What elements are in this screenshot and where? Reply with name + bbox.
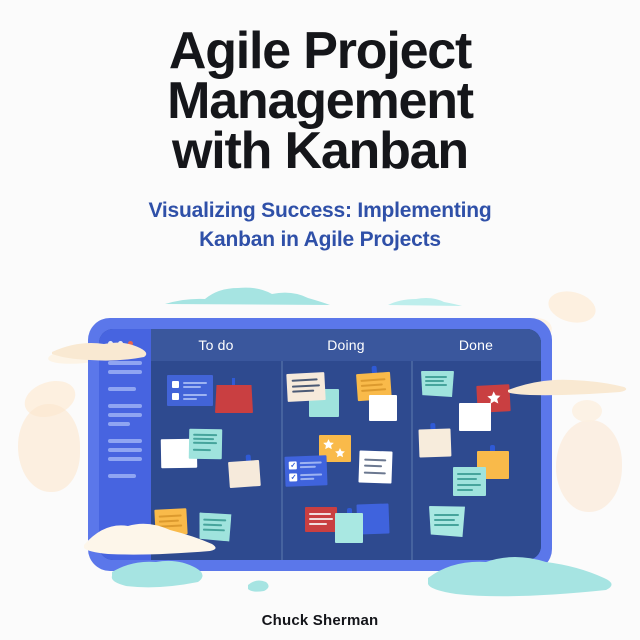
card-teal-pinned[interactable] — [335, 513, 363, 545]
column-header-done[interactable]: Done — [411, 329, 541, 361]
card-text-line — [193, 434, 217, 436]
kanban-column-doing[interactable]: ✓ ✓ — [281, 361, 411, 560]
sidebar-nav-item[interactable] — [108, 361, 142, 365]
card-orange-lined[interactable] — [154, 508, 187, 536]
kanban-column-done[interactable] — [411, 361, 541, 560]
title-line-1: Agile Project — [0, 26, 640, 76]
card-text-line — [309, 513, 331, 515]
card-text-line — [425, 384, 447, 386]
card-text-line — [457, 473, 481, 475]
sidebar-nav-item[interactable] — [108, 422, 130, 426]
app-sidebar[interactable] — [99, 329, 151, 560]
sidebar-nav-item[interactable] — [108, 439, 142, 443]
minimize-dot-icon[interactable] — [108, 341, 113, 346]
card-text-line — [292, 390, 314, 393]
card-text-line — [193, 442, 217, 444]
card-surface — [418, 428, 451, 457]
star-icon — [334, 447, 346, 459]
column-divider-2 — [411, 361, 413, 560]
card-teal-lined[interactable] — [421, 371, 454, 397]
card-text-line — [159, 524, 182, 527]
peach-blob-left-2 — [18, 404, 80, 492]
card-teal-lined-2[interactable] — [199, 512, 232, 541]
column-header-todo[interactable]: To do — [151, 329, 281, 361]
checkbox-icon[interactable] — [172, 393, 179, 400]
peach-blob-right-3 — [572, 400, 602, 422]
card-text-line — [203, 524, 222, 527]
title-line-2: Management — [0, 76, 640, 126]
card-surface — [215, 385, 253, 413]
card-text-line — [193, 438, 214, 440]
subtitle-line-2: Kanban in Agile Projects — [0, 225, 640, 254]
sidebar-nav-group-4[interactable] — [108, 439, 142, 461]
tablet-device: To do Doing Done — [88, 318, 552, 571]
card-text-line — [457, 484, 481, 486]
card-checklist[interactable] — [167, 375, 213, 406]
sidebar-nav-item[interactable] — [108, 457, 142, 461]
card-text-line — [183, 382, 207, 384]
card-cream-pinned[interactable] — [228, 460, 261, 490]
sidebar-nav-item[interactable] — [108, 474, 136, 478]
peach-blob-right-2 — [556, 420, 622, 512]
kanban-board: To do Doing Done — [151, 329, 541, 560]
card-teal-lined[interactable] — [189, 429, 223, 460]
title-block: Agile Project Management with Kanban Vis… — [0, 26, 640, 254]
card-text-line — [457, 489, 473, 491]
card-text-line — [364, 472, 386, 475]
checkbox-icon[interactable]: ✓ — [289, 473, 297, 481]
card-text-line — [309, 523, 327, 525]
card-cream-pinned[interactable] — [418, 428, 451, 459]
card-text-line — [203, 529, 225, 532]
card-text-line — [425, 380, 444, 382]
sidebar-nav-item[interactable] — [108, 448, 142, 452]
card-text-line — [309, 518, 333, 520]
card-text-line — [361, 388, 386, 392]
sidebar-nav-item[interactable] — [108, 387, 136, 391]
author-name: Chuck Sherman — [0, 612, 640, 629]
card-checklist[interactable]: ✓ ✓ — [284, 455, 327, 486]
card-text-line — [425, 376, 447, 378]
column-divider-1 — [281, 361, 283, 560]
subtitle: Visualizing Success: Implementing Kanban… — [0, 196, 640, 254]
card-text-line — [364, 459, 386, 462]
card-white-blank[interactable] — [459, 403, 491, 431]
card-text-line — [360, 378, 385, 382]
card-text-line — [203, 519, 226, 522]
sidebar-nav-group-3[interactable] — [108, 404, 142, 426]
maximize-dot-icon[interactable] — [118, 341, 123, 346]
card-text-line — [159, 514, 182, 517]
card-surface — [335, 513, 363, 543]
card-text-line — [434, 519, 455, 521]
peach-blob-left-1 — [20, 375, 80, 423]
title-line-3: with Kanban — [0, 126, 640, 176]
sidebar-nav-item[interactable] — [108, 413, 142, 417]
card-teal-lined-3[interactable] — [429, 506, 465, 537]
card-text-line — [183, 398, 197, 400]
sidebar-nav-item[interactable] — [108, 404, 142, 408]
card-white-lined[interactable] — [358, 450, 392, 483]
card-text-line — [159, 520, 179, 523]
card-text-line — [300, 461, 322, 464]
card-text-line — [292, 384, 320, 387]
column-header-doing[interactable]: Doing — [281, 329, 411, 361]
check-icon: ✓ — [290, 462, 296, 469]
sidebar-nav-group-2[interactable] — [108, 387, 142, 391]
checkbox-icon[interactable] — [172, 381, 179, 388]
card-text-line — [183, 386, 201, 388]
subtitle-line-1: Visualizing Success: Implementing — [0, 196, 640, 225]
card-text-line — [361, 383, 383, 387]
card-surface — [228, 460, 261, 488]
card-cream-lined[interactable] — [286, 372, 325, 402]
card-red-lined[interactable] — [305, 507, 337, 532]
card-text-line — [434, 514, 459, 516]
page-title: Agile Project Management with Kanban — [0, 26, 640, 176]
sidebar-nav-group-5[interactable] — [108, 474, 142, 478]
tablet-screen: To do Doing Done — [99, 329, 541, 560]
card-teal-lined-2[interactable] — [453, 467, 486, 496]
card-red-pinned[interactable] — [215, 383, 253, 413]
card-white-blank[interactable] — [369, 395, 397, 421]
card-text-line — [300, 466, 316, 469]
checkbox-icon[interactable]: ✓ — [289, 461, 297, 469]
kanban-column-headers: To do Doing Done — [151, 329, 541, 361]
window-controls[interactable] — [108, 341, 142, 346]
sidebar-nav-item[interactable] — [108, 370, 142, 374]
card-text-line — [300, 473, 322, 476]
card-text-line — [193, 449, 211, 451]
close-dot-icon[interactable] — [128, 341, 133, 346]
check-icon: ✓ — [291, 474, 297, 481]
card-text-line — [434, 524, 459, 526]
card-text-line — [364, 465, 382, 468]
card-text-line — [457, 478, 477, 480]
card-text-line — [292, 378, 318, 381]
book-cover: To do Doing Done — [0, 0, 640, 640]
sidebar-nav-group-1[interactable] — [108, 361, 142, 374]
teal-dot-bottom-icon — [248, 581, 269, 592]
kanban-column-todo[interactable] — [151, 361, 281, 560]
peach-blob-right-1 — [545, 287, 599, 328]
card-text-line — [183, 394, 207, 396]
card-text-line — [300, 478, 314, 480]
